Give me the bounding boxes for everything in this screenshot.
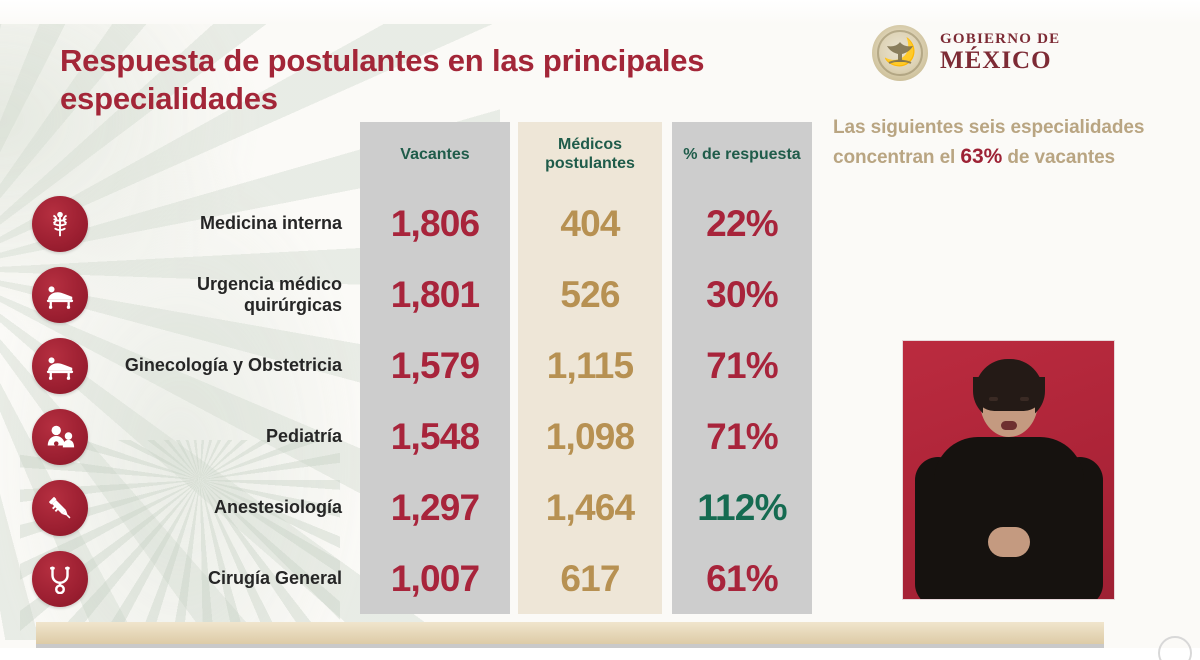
sign-language-interpreter-video[interactable] <box>902 340 1115 600</box>
cell-respuesta: 71% <box>706 416 778 457</box>
cell-postulantes: 1,464 <box>546 487 635 528</box>
column-header-vacantes: Vacantes <box>400 146 469 163</box>
cell-vacantes: 1,806 <box>391 203 480 244</box>
column-header-postulantes: Médicos postulantes <box>545 136 635 172</box>
gobierno-de-mexico-logo: 🌙​ GOBIERNO DE MÉXICO <box>872 22 1122 84</box>
row-label: Ginecología y Obstetricia <box>120 355 360 376</box>
summary-note-highlight: 63% <box>960 145 1002 168</box>
cell-postulantes: 617 <box>560 558 619 599</box>
cell-vacantes: 1,548 <box>391 416 480 457</box>
cell-respuesta: 30% <box>706 274 778 315</box>
cell-respuesta: 112% <box>697 487 786 528</box>
row-label: Medicina interna <box>120 213 360 234</box>
column-header-respuesta: % de respuesta <box>683 146 800 163</box>
bottom-margin <box>0 648 1200 660</box>
cell-postulantes: 1,098 <box>546 416 635 457</box>
logo-line-1: GOBIERNO DE <box>940 32 1060 48</box>
table-header-row: Vacantes Médicos postulantes % de respue… <box>0 122 830 188</box>
cell-respuesta: 22% <box>706 203 778 244</box>
specialties-table: Vacantes Médicos postulantes % de respue… <box>0 122 830 614</box>
top-gradient-wash <box>0 0 1200 24</box>
stretcher-icon <box>32 267 88 323</box>
table-row: Anestesiología 1,297 1,464 112% <box>0 472 830 543</box>
cell-vacantes: 1,801 <box>391 274 480 315</box>
table-row: Urgencia médico quirúrgicas 1,801 526 30… <box>0 259 830 330</box>
caduceus-icon <box>32 196 88 252</box>
page-title: Respuesta de postulantes en las principa… <box>60 42 850 118</box>
bottom-accent-bar <box>36 622 1104 644</box>
row-label: Pediatría <box>120 426 360 447</box>
cell-respuesta: 71% <box>706 345 778 386</box>
cell-postulantes: 1,115 <box>547 345 634 386</box>
stethoscope-icon <box>32 551 88 607</box>
family-icon <box>32 409 88 465</box>
cell-postulantes: 526 <box>560 274 619 315</box>
table-row: Cirugía General 1,007 617 61% <box>0 543 830 614</box>
row-label: Anestesiología <box>120 497 360 518</box>
row-label: Urgencia médico quirúrgicas <box>120 274 360 315</box>
row-label: Cirugía General <box>120 568 360 589</box>
stretcher-icon <box>32 338 88 394</box>
corner-marker <box>1158 636 1192 660</box>
cell-vacantes: 1,007 <box>391 558 480 599</box>
summary-note: Las siguientes seis especialidades conce… <box>833 115 1163 172</box>
syringe-icon <box>32 480 88 536</box>
cell-vacantes: 1,297 <box>391 487 480 528</box>
cell-respuesta: 61% <box>706 558 778 599</box>
cell-vacantes: 1,579 <box>391 345 480 386</box>
table-row: Pediatría 1,548 1,098 71% <box>0 401 830 472</box>
logo-wordmark: GOBIERNO DE MÉXICO <box>940 32 1060 74</box>
presentation-slide: Respuesta de postulantes en las principa… <box>0 0 1200 660</box>
logo-line-2: MÉXICO <box>940 48 1060 74</box>
cell-postulantes: 404 <box>560 203 619 244</box>
table-row: Ginecología y Obstetricia 1,579 1,115 71… <box>0 330 830 401</box>
table-row: Medicina interna 1,806 404 22% <box>0 188 830 259</box>
summary-note-text-after: de vacantes <box>1002 147 1115 168</box>
eagle-seal-icon: 🌙​ <box>872 25 928 81</box>
